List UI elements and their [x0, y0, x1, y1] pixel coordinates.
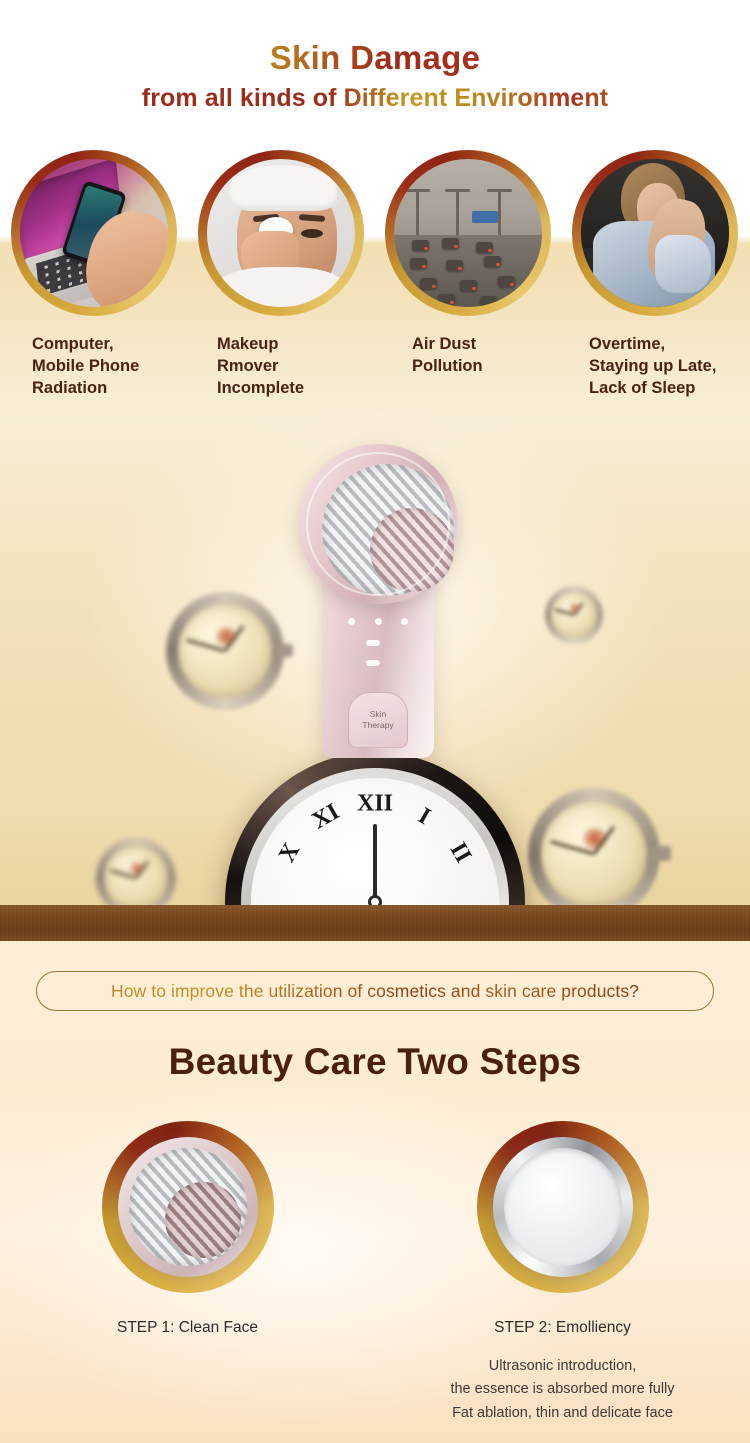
device-mesh-texture	[322, 464, 454, 596]
cause-card-makeup-remover[interactable]: Makeup Rmover Incomplete	[187, 150, 374, 399]
laptop-phone-photo	[20, 159, 168, 307]
question-pill: How to improve the utilization of cosmet…	[36, 971, 714, 1011]
device-indicator-dots	[348, 618, 408, 625]
cause-image-ring	[11, 150, 177, 316]
steps-heading: Beauty Care Two Steps	[0, 1041, 750, 1083]
cause-caption: Air Dust Pollution	[374, 334, 561, 378]
step-description: Ultrasonic introduction, the essence is …	[375, 1355, 750, 1425]
steps-row: STEP 1: Clean Face STEP 2: Emolliency Ul…	[0, 1121, 750, 1441]
floating-pocket-watch	[545, 586, 603, 644]
clock-numeral-ii: II	[444, 838, 477, 868]
step-image-ring	[102, 1121, 274, 1293]
device-head	[298, 444, 458, 604]
clock-numeral-xii: XII	[357, 791, 393, 818]
clock-numeral-i: I	[413, 803, 435, 831]
cause-card-computer-radiation[interactable]: Computer, Mobile Phone Radiation	[0, 150, 187, 399]
cause-card-air-pollution[interactable]: Air Dust Pollution	[374, 150, 561, 378]
step-image-ring	[477, 1121, 649, 1293]
step-label: STEP 1: Clean Face	[0, 1319, 375, 1337]
floating-pocket-watch	[528, 788, 660, 920]
device-level-bar	[366, 660, 380, 666]
textured-brush-head	[118, 1137, 258, 1277]
cause-caption: Overtime, Staying up Late, Lack of Sleep	[561, 334, 748, 399]
step-label: STEP 2: Emolliency	[375, 1319, 750, 1337]
cause-image-ring	[198, 150, 364, 316]
makeup-remover-photo	[207, 159, 355, 307]
damage-causes-list: Computer, Mobile Phone Radiation	[0, 150, 750, 420]
clock-numeral-xi: XI	[308, 799, 345, 836]
step-card-1[interactable]: STEP 1: Clean Face	[0, 1121, 375, 1441]
clock-hour-hand	[373, 824, 377, 902]
tired-woman-photo	[581, 159, 729, 307]
smooth-chrome-plate	[493, 1137, 633, 1277]
clock-numeral-x: X	[274, 839, 306, 868]
cause-card-lack-of-sleep[interactable]: Overtime, Staying up Late, Lack of Sleep	[561, 150, 748, 399]
cause-caption: Computer, Mobile Phone Radiation	[0, 334, 187, 399]
steps-section: How to improve the utilization of cosmet…	[0, 941, 750, 1443]
cause-image-ring	[385, 150, 551, 316]
description-line: Fat ablation, thin and delicate face	[375, 1402, 750, 1425]
cause-image-ring	[572, 150, 738, 316]
floating-pocket-watch	[166, 592, 284, 710]
device-level-bar	[366, 640, 380, 646]
brown-divider-band	[0, 905, 750, 941]
cause-caption: Makeup Rmover Incomplete	[187, 334, 374, 399]
smog-traffic-photo	[394, 159, 542, 307]
question-text: How to improve the utilization of cosmet…	[111, 981, 639, 1002]
page-subtitle: from all kinds of Different Environment	[0, 84, 750, 113]
description-line: the essence is absorbed more fully	[375, 1378, 750, 1401]
description-line: Ultrasonic introduction,	[375, 1355, 750, 1378]
header-section: Skin Damage from all kinds of Different …	[0, 0, 750, 420]
page-title: Skin Damage	[0, 0, 750, 76]
skin-therapy-device[interactable]: Skin Therapy	[288, 438, 468, 758]
device-mesh-core	[370, 508, 454, 592]
step-card-2[interactable]: STEP 2: Emolliency Ultrasonic introducti…	[375, 1121, 750, 1441]
device-mode-button[interactable]: Skin Therapy	[348, 692, 408, 748]
